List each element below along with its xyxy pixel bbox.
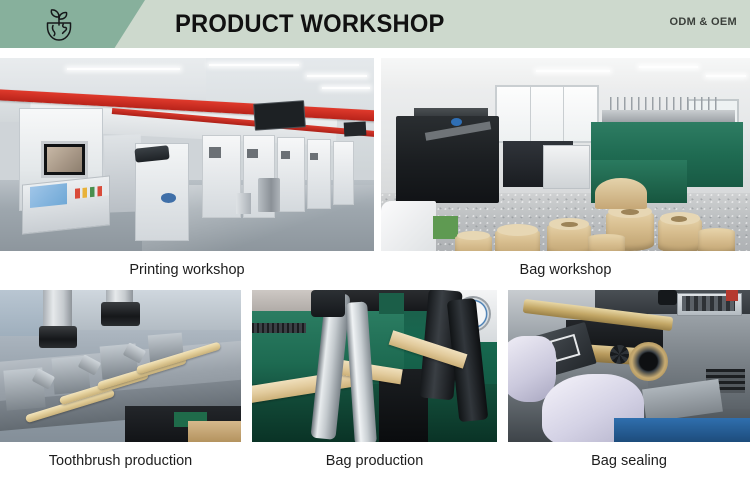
caption-bag-production: Bag production	[252, 452, 497, 470]
caption-printing-workshop: Printing workshop	[0, 261, 374, 279]
toothbrush-production-photo	[0, 290, 241, 442]
gallery-item-bag-workshop[interactable]	[381, 58, 750, 251]
gallery-item-toothbrush-production[interactable]	[0, 290, 241, 442]
odm-oem-badge: ODM & OEM	[670, 16, 737, 28]
bag-sealing-photo	[508, 290, 750, 442]
gallery-row-2: Toothbrush production	[0, 290, 750, 482]
page-title: PRODUCT WORKSHOP	[175, 9, 445, 39]
gallery-item-bag-production[interactable]	[252, 290, 497, 442]
printing-workshop-photo	[0, 58, 374, 251]
caption-bag-workshop: Bag workshop	[381, 261, 750, 279]
product-workshop-page: PRODUCT WORKSHOP ODM & OEM	[0, 0, 750, 492]
gallery-item-printing-workshop[interactable]	[0, 58, 374, 251]
bag-production-photo	[252, 290, 497, 442]
bag-workshop-photo	[381, 58, 750, 251]
caption-bag-sealing: Bag sealing	[508, 452, 750, 470]
gallery-item-bag-sealing[interactable]	[508, 290, 750, 442]
gallery-row-1: Printing workshop	[0, 58, 750, 290]
sprout-globe-icon	[38, 6, 80, 44]
caption-toothbrush-production: Toothbrush production	[0, 452, 241, 470]
page-header: PRODUCT WORKSHOP ODM & OEM	[0, 0, 750, 48]
